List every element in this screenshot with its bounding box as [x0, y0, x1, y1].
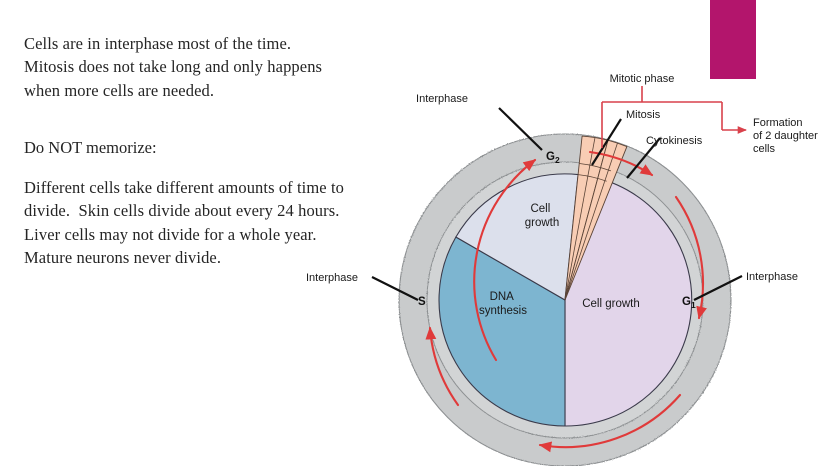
callout-formation: Formation of 2 daughter cells: [753, 117, 821, 155]
sector-label-g1: Cell growth: [582, 298, 640, 310]
callout-interphase-left: Interphase: [306, 272, 358, 284]
callout-cytokinesis: Cytokinesis: [646, 135, 703, 147]
callout-interphase-top: Interphase: [416, 93, 468, 105]
paragraph-line: Cells are in interphase most of the time…: [24, 32, 424, 55]
cell-cycle-diagram: G2 G1 S Cell growth DNA synthesis Cell g…: [290, 60, 828, 466]
phase-marker-s: S: [418, 296, 426, 308]
callout-mitotic-phase: Mitotic phase: [610, 73, 675, 85]
callout-interphase-right: Interphase: [746, 271, 798, 283]
callout-mitosis: Mitosis: [626, 109, 661, 121]
